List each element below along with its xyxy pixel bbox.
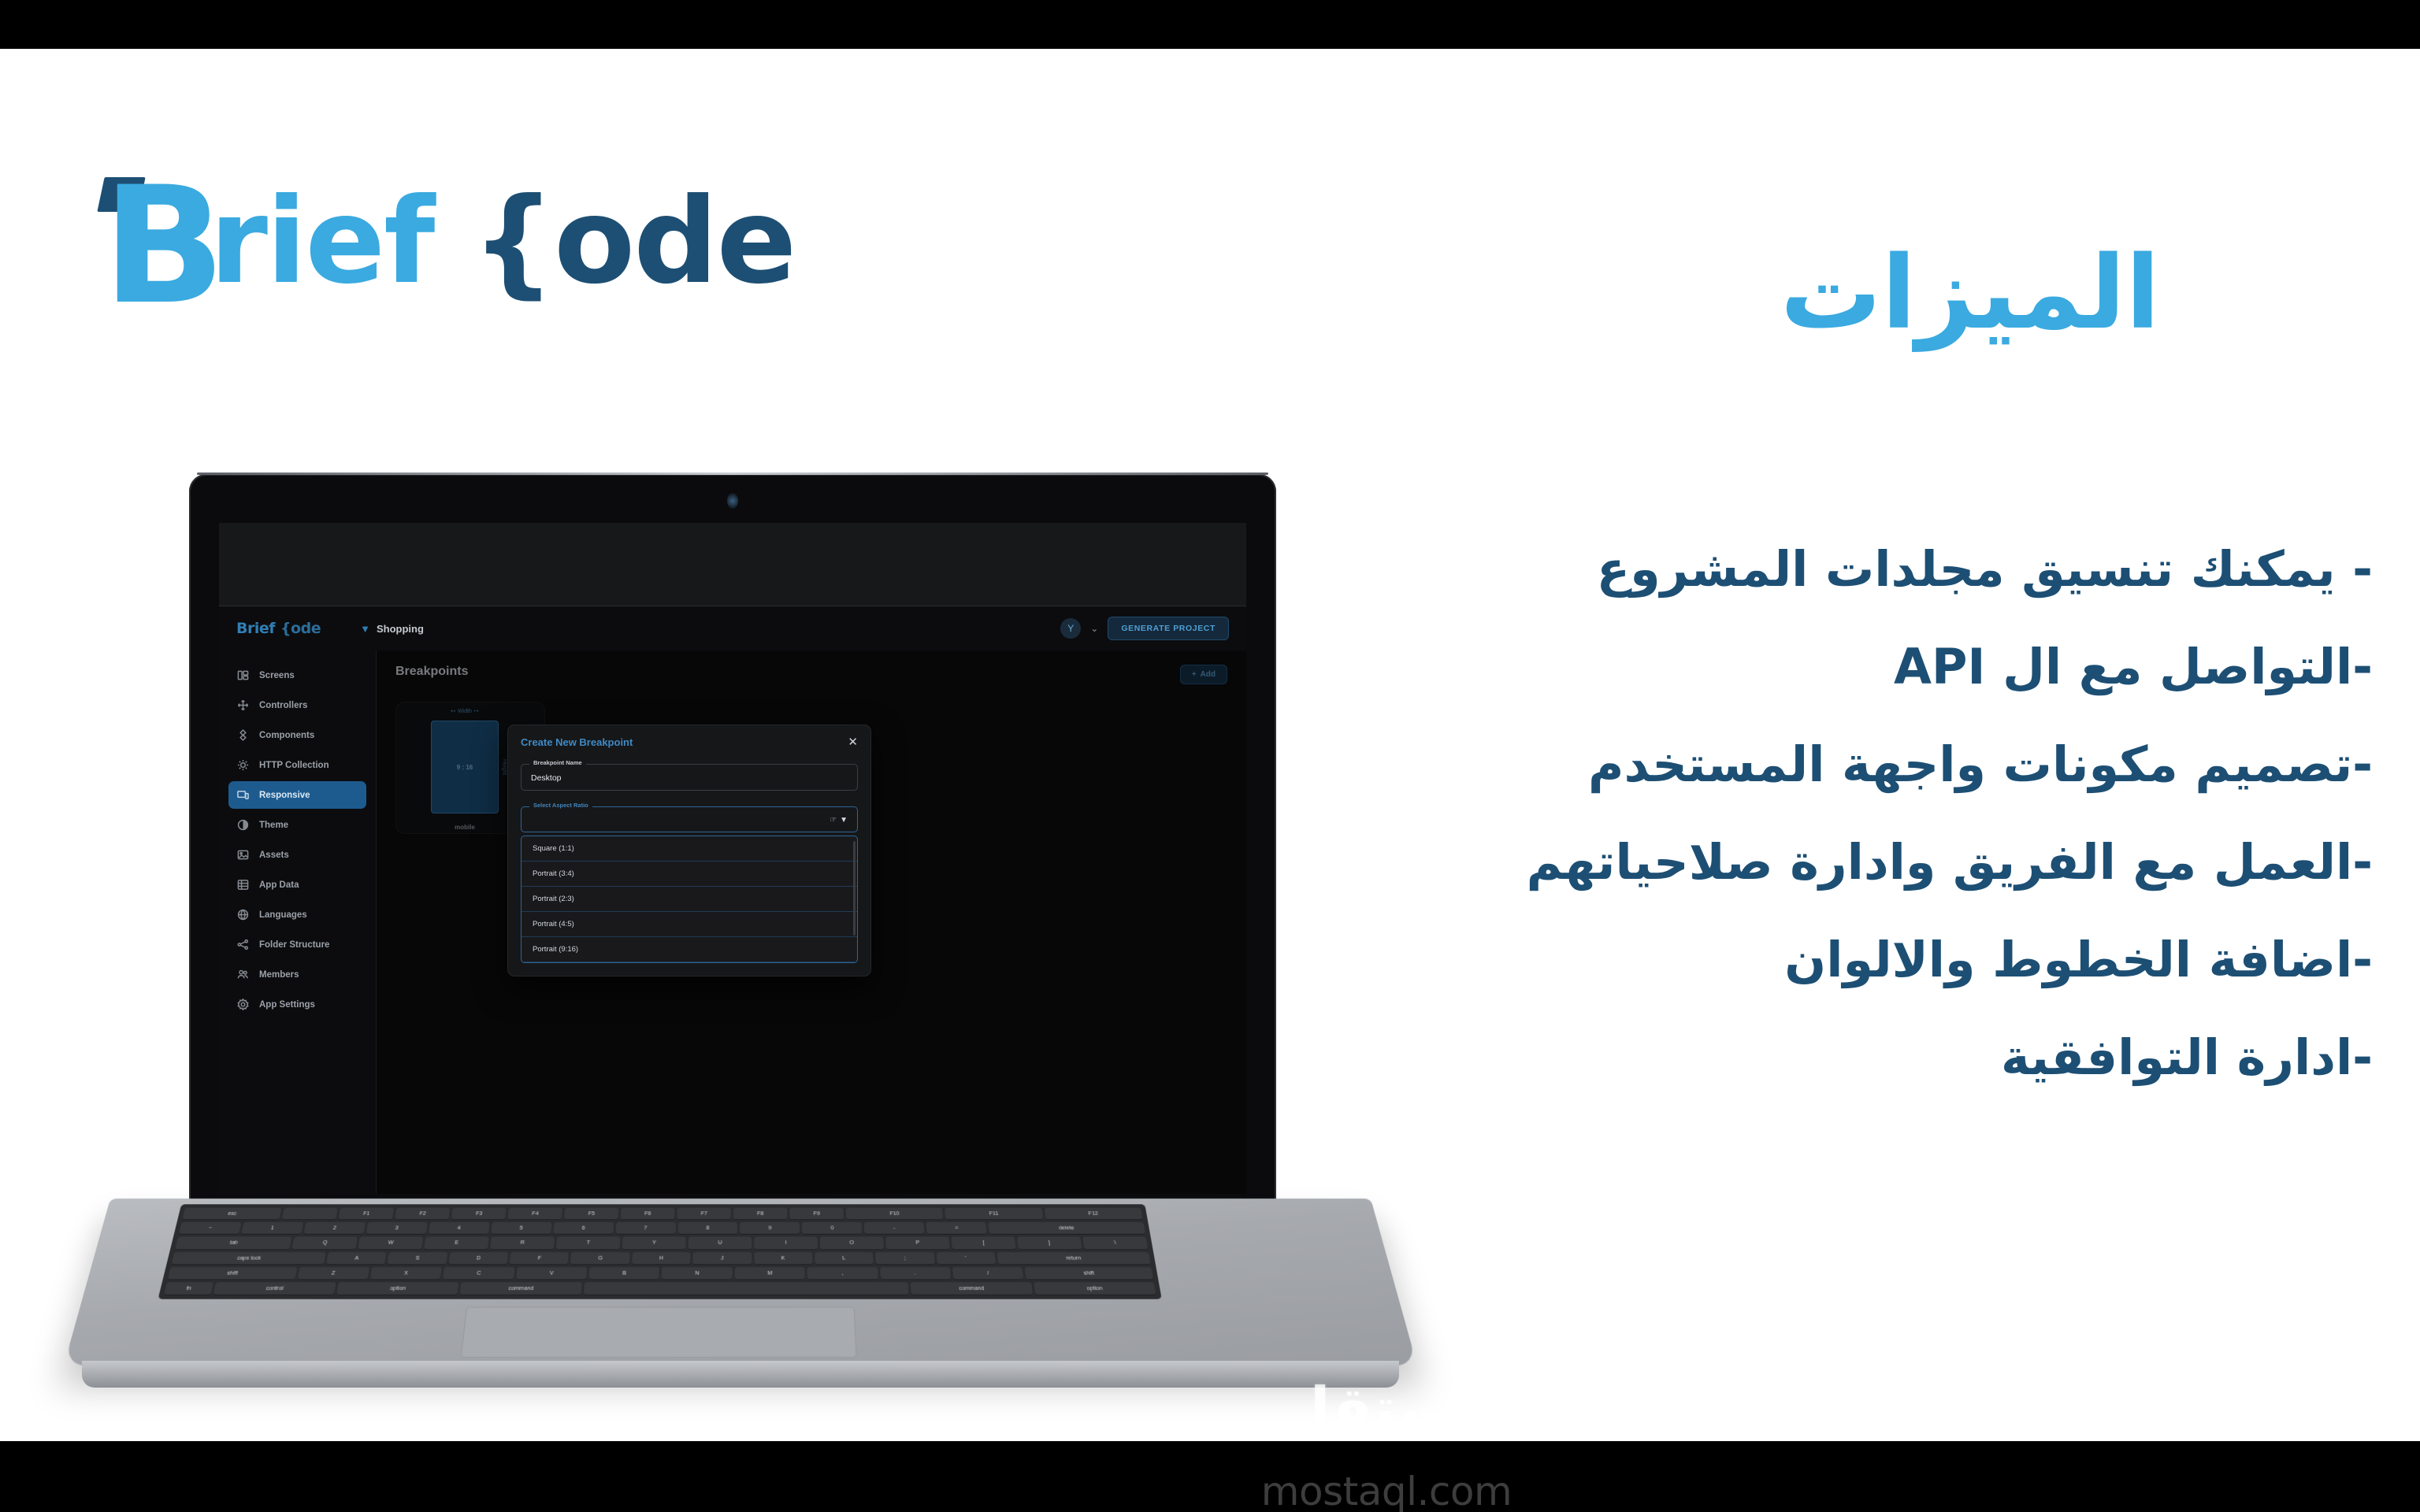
- main-panel: Breakpoints + Add ↤: [377, 650, 1246, 1194]
- laptop-base: escF1F2F3F4F5F6F7F8F9F10F11F12 ~12345678…: [63, 1199, 1418, 1419]
- brand-logo: B rief {ode: [95, 167, 930, 317]
- key-option[interactable]: option: [1034, 1282, 1156, 1295]
- aspect-ratio-option[interactable]: Portrait (9:16): [521, 937, 857, 962]
- key-f10[interactable]: F10: [846, 1208, 944, 1221]
- key-c[interactable]: C: [443, 1267, 514, 1280]
- key-shift[interactable]: shift: [168, 1267, 297, 1280]
- key-option[interactable]: option: [336, 1282, 459, 1295]
- key--[interactable]: ': [936, 1252, 996, 1265]
- key--[interactable]: =: [926, 1222, 987, 1235]
- key-space[interactable]: [583, 1282, 909, 1295]
- key-h[interactable]: H: [632, 1252, 691, 1265]
- key-6[interactable]: 6: [553, 1222, 614, 1235]
- key-2[interactable]: 2: [303, 1222, 366, 1235]
- key-delete[interactable]: delete: [988, 1222, 1145, 1235]
- project-selector[interactable]: ▼ Shopping: [360, 623, 424, 635]
- webcam-icon: [727, 493, 738, 509]
- keyboard-row: tabQWERTYUIOP[]\: [175, 1237, 1148, 1250]
- avatar[interactable]: Y: [1060, 618, 1081, 639]
- sidebar-item-controllers[interactable]: Controllers: [228, 691, 366, 719]
- aspect-ratio-label: Select Aspect Ratio: [529, 802, 592, 809]
- sidebar-item-app-settings[interactable]: App Settings: [228, 991, 366, 1018]
- features-title: الميزات: [1780, 235, 2160, 352]
- key-esc[interactable]: esc: [182, 1208, 282, 1221]
- sidebar-item-members[interactable]: Members: [228, 961, 366, 988]
- sidebar-item-screens[interactable]: Screens: [228, 661, 366, 689]
- key-fn[interactable]: fn: [164, 1282, 213, 1295]
- laptop-deck: escF1F2F3F4F5F6F7F8F9F10F11F12 ~12345678…: [64, 1199, 1417, 1366]
- sidebar-item-label: Theme: [259, 821, 288, 830]
- key-f3[interactable]: F3: [451, 1208, 507, 1221]
- key-tab[interactable]: tab: [175, 1237, 292, 1250]
- modal-header: Create New Breakpoint ✕: [521, 736, 858, 748]
- screens-icon: [236, 669, 250, 682]
- laptop-front-edge: [82, 1361, 1399, 1388]
- lid-top-highlight: [197, 472, 1268, 475]
- app-body: Screens Controllers Components: [219, 650, 1246, 1194]
- sidebar-item-label: App Data: [259, 880, 299, 890]
- key-j[interactable]: J: [692, 1252, 751, 1265]
- key-f9[interactable]: F9: [789, 1208, 844, 1221]
- watermark-url: mostaql.com: [1261, 1469, 1512, 1512]
- laptop-lid: Brief{ode ▼ Shopping Y ⌄ GENERATE PROJEC…: [189, 474, 1276, 1214]
- modal-title: Create New Breakpoint: [521, 736, 633, 748]
- key-caps-lock[interactable]: caps lock: [171, 1252, 326, 1265]
- key-f5[interactable]: F5: [564, 1208, 618, 1221]
- keyboard-row: caps lockASDFGHJKL;'return: [171, 1252, 1150, 1265]
- app-logo[interactable]: Brief{ode: [236, 620, 321, 637]
- keyboard-row: escF1F2F3F4F5F6F7F8F9F10F11F12: [182, 1208, 1143, 1221]
- aspect-ratio-icons: ☞ ▼: [830, 816, 848, 825]
- sidebar-item-label: Languages: [259, 910, 307, 920]
- aspect-ratio-field[interactable]: Select Aspect Ratio ☞ ▼: [521, 806, 858, 832]
- aspect-ratio-option[interactable]: Portrait (4:5): [521, 912, 857, 937]
- key-4[interactable]: 4: [428, 1222, 489, 1235]
- keyboard-row: fncontroloptioncommandcommandoption: [164, 1282, 1156, 1295]
- key-n[interactable]: N: [662, 1267, 733, 1280]
- key-f2[interactable]: F2: [395, 1208, 451, 1221]
- breakpoint-name-input[interactable]: Desktop: [531, 773, 848, 783]
- key--[interactable]: ;: [875, 1252, 934, 1265]
- sidebar-item-label: Assets: [259, 850, 289, 860]
- folder-structure-icon: [236, 938, 250, 951]
- sidebar-item-label: HTTP Collection: [259, 761, 329, 770]
- controllers-icon: [236, 699, 250, 712]
- close-icon[interactable]: ✕: [848, 736, 858, 748]
- assets-icon: [236, 848, 250, 862]
- brand-logo-word-brief: rief: [210, 173, 433, 310]
- breakpoint-name-label: Breakpoint Name: [529, 759, 586, 766]
- app-logo-brief: Brief: [236, 620, 275, 637]
- app-data-icon: [236, 878, 250, 891]
- poster-root: B rief {ode الميزات - يمكنك تنسيق مجلدات…: [0, 0, 2420, 1512]
- brand-logo-mark: B: [95, 171, 221, 313]
- key-l[interactable]: L: [815, 1252, 874, 1265]
- options-scrollbar[interactable]: [853, 841, 856, 936]
- key-k[interactable]: K: [754, 1252, 813, 1265]
- key-t[interactable]: T: [556, 1237, 621, 1250]
- components-icon: [236, 728, 250, 742]
- key-f12[interactable]: F12: [1044, 1208, 1143, 1221]
- brand-logo-initial: B: [102, 176, 221, 317]
- sidebar-item-app-data[interactable]: App Data: [228, 871, 366, 899]
- key-control[interactable]: control: [213, 1282, 336, 1295]
- key-r[interactable]: R: [490, 1237, 555, 1250]
- aspect-ratio-option[interactable]: Portrait (3:4): [521, 862, 857, 887]
- sidebar-item-assets[interactable]: Assets: [228, 841, 366, 869]
- key-command[interactable]: command: [460, 1282, 582, 1295]
- key--[interactable]: ~: [179, 1222, 242, 1235]
- sidebar-item-languages[interactable]: Languages: [228, 901, 366, 928]
- chevron-down-icon[interactable]: ▼: [840, 816, 848, 825]
- sidebar-item-label: Controllers: [259, 701, 307, 710]
- key-q[interactable]: Q: [292, 1237, 358, 1250]
- http-collection-icon: [236, 758, 250, 772]
- app-topbar-right: Y ⌄ GENERATE PROJECT: [1060, 617, 1229, 640]
- sidebar-item-theme[interactable]: Theme: [228, 811, 366, 839]
- key-f7[interactable]: F7: [677, 1208, 731, 1221]
- theme-icon: [236, 818, 250, 832]
- key-i[interactable]: I: [754, 1237, 818, 1250]
- sidebar-item-label: Folder Structure: [259, 940, 329, 950]
- keyboard: escF1F2F3F4F5F6F7F8F9F10F11F12 ~12345678…: [158, 1204, 1162, 1299]
- sidebar-item-responsive[interactable]: Responsive: [228, 781, 366, 809]
- key-v[interactable]: V: [516, 1267, 588, 1280]
- key-e[interactable]: E: [424, 1237, 489, 1250]
- key-f11[interactable]: F11: [945, 1208, 1043, 1221]
- key-s[interactable]: S: [388, 1252, 448, 1265]
- key-shift[interactable]: shift: [1025, 1267, 1153, 1280]
- key-0[interactable]: 0: [802, 1222, 863, 1235]
- key-8[interactable]: 8: [677, 1222, 737, 1235]
- sidebar-item-label: Screens: [259, 671, 295, 680]
- members-icon: [236, 968, 250, 981]
- key-5[interactable]: 5: [491, 1222, 551, 1235]
- sidebar-item-folder-structure[interactable]: Folder Structure: [228, 931, 366, 958]
- keyboard-row: shiftZXCVBNM,./shift: [168, 1267, 1153, 1280]
- app-topbar: Brief{ode ▼ Shopping Y ⌄ GENERATE PROJEC…: [219, 606, 1246, 650]
- white-canvas: B rief {ode الميزات - يمكنك تنسيق مجلدات…: [0, 49, 2420, 1441]
- key-d[interactable]: D: [448, 1252, 508, 1265]
- sidebar: Screens Controllers Components: [219, 650, 377, 1194]
- key-f4[interactable]: F4: [507, 1208, 562, 1221]
- key-f8[interactable]: F8: [733, 1208, 788, 1221]
- responsive-icon: [236, 788, 250, 802]
- key-p[interactable]: P: [885, 1237, 950, 1250]
- key--[interactable]: ,: [807, 1267, 878, 1280]
- screen-top-band: [219, 523, 1246, 606]
- chevron-down-icon: ▼: [360, 623, 370, 635]
- key--[interactable]: ]: [1017, 1237, 1082, 1250]
- app-logo-code: {ode: [280, 620, 321, 637]
- key-command[interactable]: command: [911, 1282, 1033, 1295]
- key-9[interactable]: 9: [740, 1222, 800, 1235]
- aspect-ratio-option[interactable]: Portrait (2:3): [521, 887, 857, 912]
- cursor-icon: ☞: [830, 816, 837, 825]
- key--[interactable]: [: [951, 1237, 1015, 1250]
- key-y[interactable]: Y: [622, 1237, 686, 1250]
- key-o[interactable]: O: [820, 1237, 884, 1250]
- briefcode-app: Brief{ode ▼ Shopping Y ⌄ GENERATE PROJEC…: [219, 606, 1246, 1194]
- aspect-ratio-row: ☞ ▼: [531, 816, 848, 825]
- languages-icon: [236, 908, 250, 921]
- watermark: مستقل: [1280, 1380, 1494, 1438]
- key-1[interactable]: 1: [241, 1222, 303, 1235]
- sidebar-item-http-collection[interactable]: HTTP Collection: [228, 751, 366, 779]
- key-f[interactable]: F: [510, 1252, 570, 1265]
- key-x[interactable]: X: [370, 1267, 443, 1280]
- key--[interactable]: -: [864, 1222, 925, 1235]
- key-m[interactable]: M: [735, 1267, 805, 1280]
- key-g[interactable]: G: [570, 1252, 629, 1265]
- key-a[interactable]: A: [326, 1252, 387, 1265]
- keyboard-row: ~1234567890-=delete: [179, 1222, 1145, 1235]
- key--[interactable]: .: [880, 1267, 951, 1280]
- chevron-down-icon[interactable]: ⌄: [1090, 623, 1098, 634]
- breakpoint-name-field[interactable]: Breakpoint Name Desktop: [521, 764, 858, 791]
- laptop-mockup: Brief{ode ▼ Shopping Y ⌄ GENERATE PROJEC…: [63, 466, 1418, 1466]
- key-return[interactable]: return: [997, 1252, 1150, 1265]
- project-name: Shopping: [377, 623, 424, 635]
- sidebar-item-label: App Settings: [259, 1000, 315, 1010]
- trackpad[interactable]: [461, 1307, 857, 1358]
- key-space[interactable]: [282, 1208, 338, 1221]
- laptop-screen: Brief{ode ▼ Shopping Y ⌄ GENERATE PROJEC…: [219, 523, 1246, 1194]
- key--[interactable]: \: [1082, 1237, 1148, 1250]
- key-b[interactable]: B: [588, 1267, 659, 1280]
- sidebar-item-label: Responsive: [259, 791, 310, 800]
- key-u[interactable]: U: [689, 1237, 752, 1250]
- aspect-ratio-option[interactable]: Square (1:1): [521, 836, 857, 862]
- key-7[interactable]: 7: [615, 1222, 676, 1235]
- key-w[interactable]: W: [358, 1237, 423, 1250]
- brand-logo-word-code: {ode: [471, 173, 795, 310]
- sidebar-item-label: Components: [259, 731, 314, 740]
- key-f6[interactable]: F6: [621, 1208, 675, 1221]
- key--[interactable]: /: [952, 1267, 1024, 1280]
- sidebar-item-label: Members: [259, 970, 299, 980]
- create-breakpoint-modal: Create New Breakpoint ✕ Breakpoint Name …: [507, 724, 871, 976]
- key-z[interactable]: Z: [297, 1267, 369, 1280]
- generate-project-button[interactable]: GENERATE PROJECT: [1108, 617, 1229, 640]
- app-settings-icon: [236, 998, 250, 1011]
- key-3[interactable]: 3: [366, 1222, 427, 1235]
- watermark-arabic: مستقل: [1280, 1380, 1494, 1438]
- sidebar-item-components[interactable]: Components: [228, 721, 366, 749]
- aspect-ratio-options-list[interactable]: Square (1:1) Portrait (3:4) Portrait (2:…: [521, 836, 858, 963]
- key-f1[interactable]: F1: [338, 1208, 394, 1221]
